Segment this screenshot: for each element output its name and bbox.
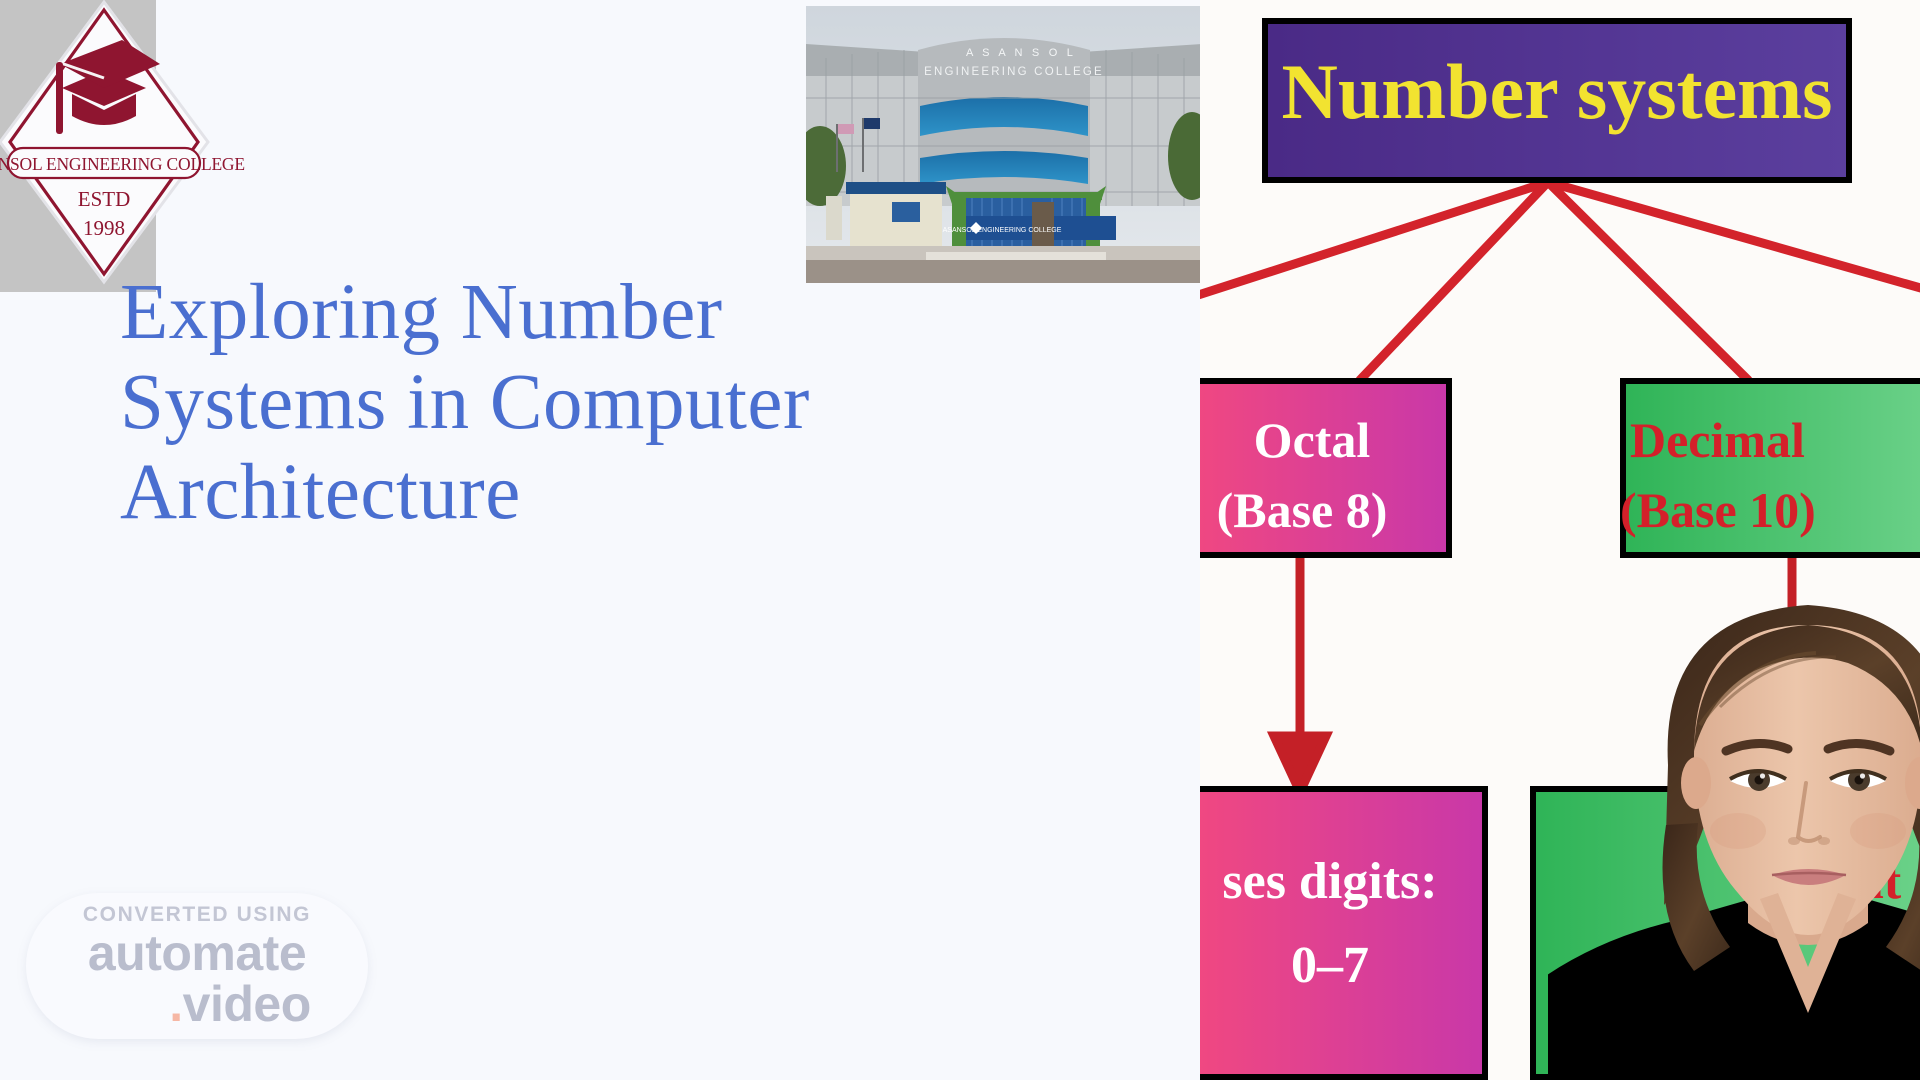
- title-line-2: Systems in Computer: [120, 358, 1130, 448]
- diagram-decimal-title: Decimal: [1630, 412, 1805, 468]
- title-line-1: Exploring Number: [120, 268, 1130, 358]
- photo-gate-banner: ASANSOL ENGINEERING COLLEGE: [943, 227, 1062, 234]
- diagram-node-octal-digits: ses digits: 0–7: [1200, 786, 1488, 1080]
- diagram-decimal-subtitle: (Base 10): [1620, 482, 1816, 538]
- title-line-3: Architecture: [120, 448, 1130, 538]
- logo-institution-text: ASANSOL ENGINEERING COLLEGE: [0, 154, 245, 174]
- diagram-root-label: Number systems: [1281, 48, 1832, 135]
- logo-estd-year: 1998: [83, 216, 125, 240]
- presenter-avatar: [1548, 575, 1920, 1080]
- diagram-octal-digits-line2: 0–7: [1291, 937, 1369, 994]
- photo-sign-line2: ENGINEERING COLLEGE: [924, 66, 1104, 78]
- diagram-octal-title: Octal: [1254, 412, 1371, 468]
- watermark-tld: .video: [169, 979, 311, 1029]
- diagram-node-root: Number systems: [1262, 18, 1852, 183]
- logo-estd-label: ESTD: [78, 187, 131, 211]
- diagram-node-decimal: Decimal (Base 10): [1620, 378, 1920, 558]
- college-building-photo: A S A N S O L ENGINEERING COLLEGE: [806, 6, 1200, 283]
- photo-sign-line1: A S A N S O L: [966, 47, 1076, 59]
- watermark-eyebrow: CONVERTED USING: [83, 903, 311, 927]
- diagram-octal-digits-line1: ses digits:: [1222, 853, 1437, 910]
- watermark-brand: automate: [88, 930, 306, 977]
- college-logo: ASANSOL ENGINEERING COLLEGE ESTD 1998: [0, 0, 256, 292]
- watermark-dot: .: [169, 976, 182, 1032]
- watermark-tld-text: video: [183, 976, 311, 1032]
- page-title: Exploring Number Systems in Computer Arc…: [120, 268, 1130, 538]
- video-panel: Number systems Octal (Base 8) Decimal (B…: [1200, 0, 1920, 1080]
- screen: ASANSOL ENGINEERING COLLEGE ESTD 1998: [0, 0, 1920, 1080]
- diagram-node-octal: Octal (Base 8): [1200, 378, 1452, 558]
- slide-panel: ASANSOL ENGINEERING COLLEGE ESTD 1998: [0, 0, 1200, 1080]
- diagram-octal-subtitle: (Base 8): [1217, 482, 1388, 538]
- automate-video-watermark: CONVERTED USING automate .video: [26, 893, 368, 1039]
